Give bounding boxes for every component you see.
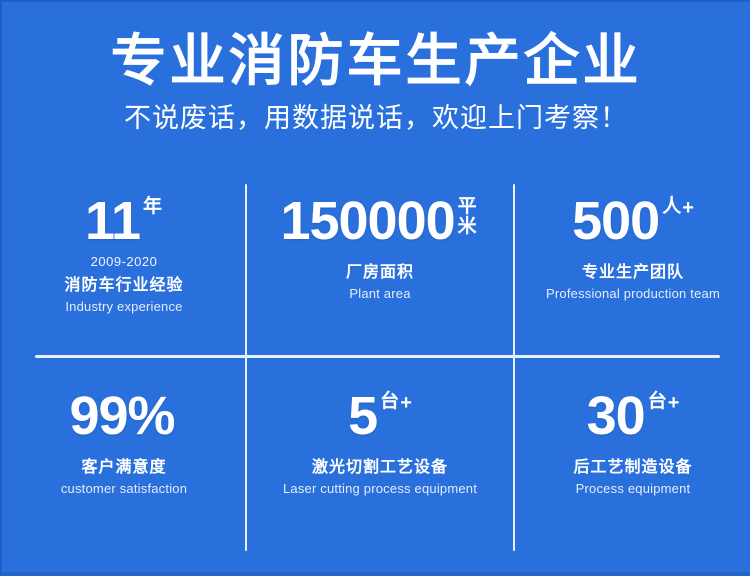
- stat-label-cn: 消防车行业经验: [64, 277, 183, 295]
- stats-grid: 11 年 2009-2020 消防车行业经验 Industry experien…: [2, 178, 750, 556]
- stat-unit-suffix: +: [668, 393, 680, 413]
- stat-value-line: 99%: [69, 389, 178, 443]
- page-subtitle: 不说废话，用数据说话，欢迎上门考察！: [2, 93, 750, 134]
- stat-value: 5: [348, 389, 377, 443]
- stat-value-line: 500 人 +: [572, 194, 694, 248]
- stat-label-en: customer satisfaction: [61, 482, 187, 496]
- stat-unit: 台: [380, 392, 399, 412]
- stat-cell-laser-cutting-equipment: 5 台 + 激光切割工艺设备 Laser cutting process equ…: [246, 357, 514, 556]
- poster-header: 专业消防车生产企业 不说废话，用数据说话，欢迎上门考察！: [2, 2, 750, 172]
- stat-unit: 台: [648, 392, 667, 412]
- stat-label-cn: 客户满意度: [81, 459, 166, 477]
- stat-label-en: Industry experience: [65, 300, 182, 314]
- stat-value: 11: [85, 194, 140, 248]
- stat-label-en: Laser cutting process equipment: [283, 482, 477, 496]
- stat-cell-industry-experience: 11 年 2009-2020 消防车行业经验 Industry experien…: [2, 178, 246, 357]
- stat-unit: 年: [143, 197, 162, 217]
- stat-cell-customer-satisfaction: 99% 客户满意度 customer satisfaction: [2, 357, 246, 556]
- stat-cell-process-equipment: 30 台 + 后工艺制造设备 Process equipment: [514, 357, 750, 556]
- stat-unit: 人: [662, 197, 681, 217]
- stat-cell-plant-area: 150000 平米 厂房面积 Plant area: [246, 178, 514, 357]
- stat-value: 30: [587, 389, 645, 443]
- stat-unit: 平米: [458, 197, 479, 237]
- company-stats-poster: 专业消防车生产企业 不说废话，用数据说话，欢迎上门考察！ 11 年 2009-2…: [0, 0, 750, 576]
- stat-value: 99%: [69, 389, 174, 443]
- stat-label-en: Plant area: [349, 287, 410, 301]
- stat-label-cn: 厂房面积: [346, 264, 414, 282]
- stat-value: 500: [572, 194, 659, 248]
- stat-year-range: 2009-2020: [91, 255, 158, 268]
- stat-value-line: 11 年: [85, 194, 163, 248]
- stat-value-line: 30 台 +: [587, 389, 680, 443]
- stat-label-cn: 专业生产团队: [582, 264, 684, 282]
- stat-cell-production-team: 500 人 + 专业生产团队 Professional production t…: [514, 178, 750, 357]
- stat-value-line: 5 台 +: [348, 389, 412, 443]
- stat-value: 150000: [280, 194, 454, 248]
- stat-label-cn: 后工艺制造设备: [573, 459, 692, 477]
- stat-label-cn: 激光切割工艺设备: [312, 459, 448, 477]
- stat-value-line: 150000 平米: [280, 194, 479, 248]
- stat-label-en: Professional production team: [546, 287, 720, 301]
- stat-unit-suffix: +: [400, 393, 412, 413]
- page-title: 专业消防车生产企业: [2, 2, 750, 93]
- stat-unit-suffix: +: [682, 198, 694, 218]
- stat-label-en: Process equipment: [576, 482, 691, 496]
